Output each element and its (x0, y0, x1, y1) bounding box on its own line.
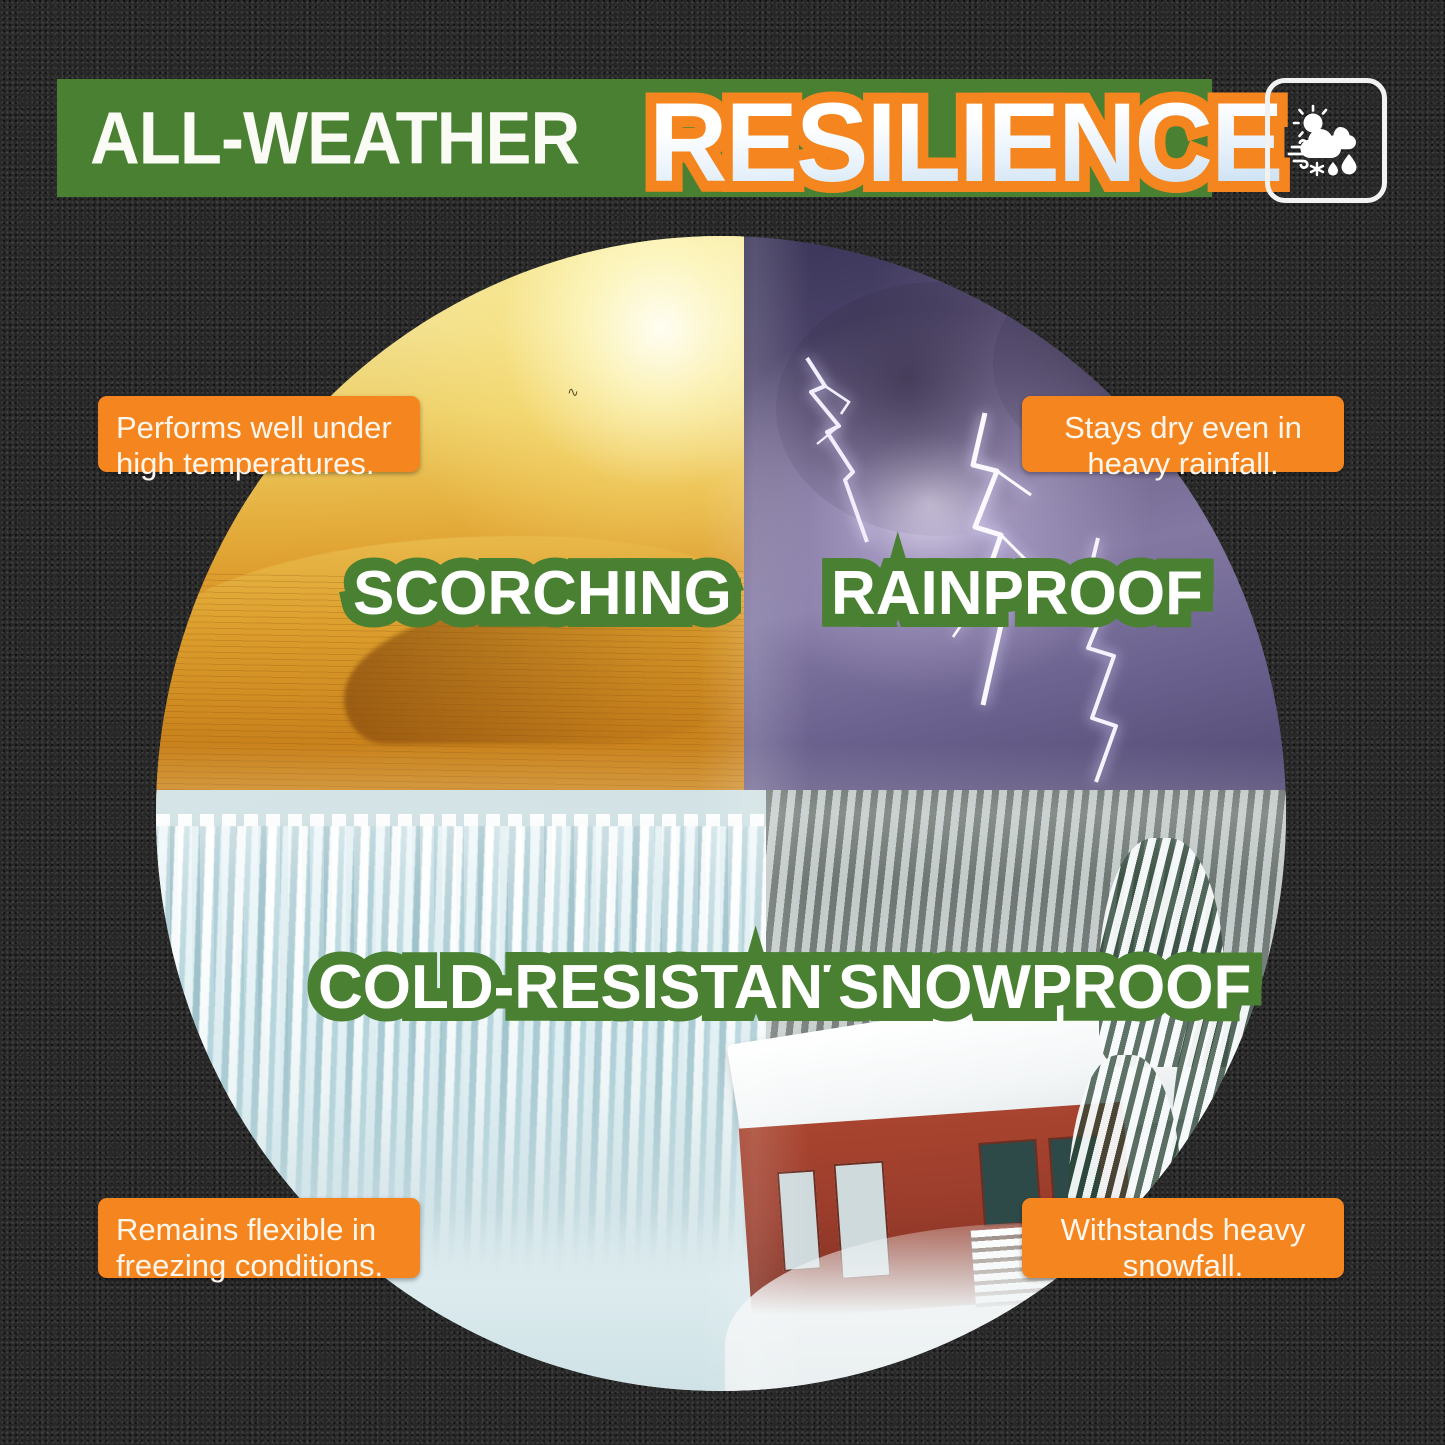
quadrant-scorching-scene: ∿ (156, 236, 744, 814)
cabin-window (777, 1169, 822, 1272)
quadrant-snowproof-scene (766, 790, 1286, 1391)
title-resilience-fill: RESILIENCE (649, 80, 1282, 205)
label-rainproof: RAINPROOF RAINPROOF (831, 563, 1203, 625)
label-scorching: SCORCHING SCORCHING (353, 563, 732, 625)
title-resilience-wrap: RESILIENCE RESILIENCE (649, 73, 1301, 213)
sun-cloud-rain-snow-wind-icon (1283, 98, 1369, 184)
label-snowproof-text: SNOWPROOF (838, 957, 1251, 1019)
callout-heavy-rainfall: Stays dry even in heavy rainfall. (1022, 396, 1344, 472)
bird-silhouette-icon: ∿ (567, 385, 594, 398)
quadrant-rainproof-scene (744, 236, 1286, 814)
label-scorching-text: SCORCHING (353, 563, 732, 625)
lightning-bolt-icon (787, 352, 937, 552)
label-rainproof-text: RAINPROOF (831, 563, 1203, 625)
title-resilience: RESILIENCE RESILIENCE (649, 87, 1282, 199)
weather-icon-badge (1265, 78, 1387, 203)
header-banner: ALL-WEATHER RESILIENCE RESILIENCE (57, 79, 1387, 201)
infographic-canvas: ALL-WEATHER RESILIENCE RESILIENCE (0, 0, 1445, 1445)
label-cold-resistant-text: COLD-RESISTANT (318, 957, 861, 1019)
callout-high-temperature: Performs well under high temperatures. (98, 396, 420, 472)
label-cold-resistant: COLD-RESISTANT COLD-RESISTANT (318, 957, 861, 1019)
quadrant-cold-resistant-scene (156, 790, 766, 1391)
label-snowproof: SNOWPROOF SNOWPROOF (838, 957, 1251, 1019)
callout-freezing-conditions: Remains flexible in freezing conditions. (98, 1198, 420, 1278)
callout-heavy-snowfall: Withstands heavy snowfall. (1022, 1198, 1344, 1278)
title-all-weather: ALL-WEATHER (90, 102, 579, 176)
